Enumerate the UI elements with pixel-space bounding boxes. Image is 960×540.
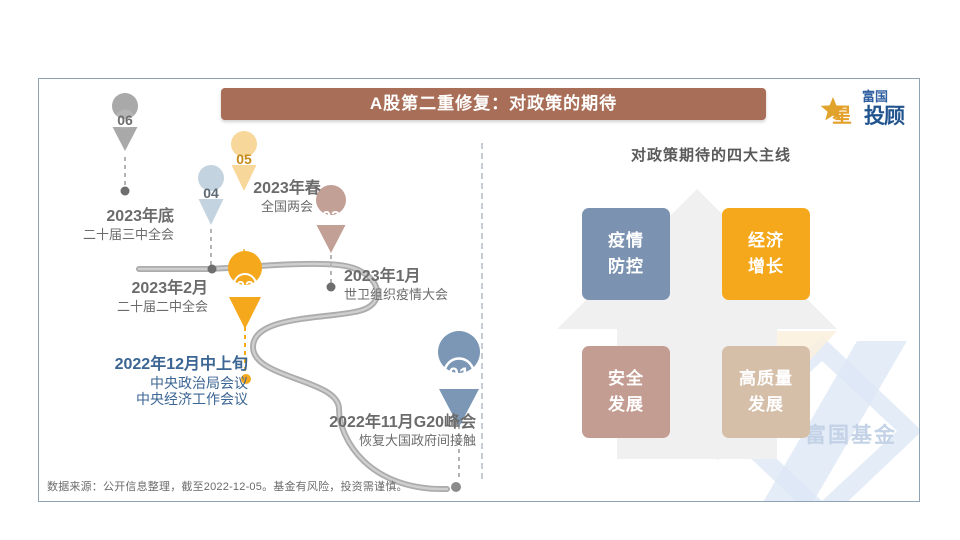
svg-text:04: 04: [203, 185, 219, 201]
theme-box-epidemic[interactable]: 疫情 防控: [582, 208, 670, 300]
event-subtitle-05: 全国两会: [224, 199, 350, 214]
panel-title: 对政策期待的四大主线: [598, 144, 824, 165]
timeline-pin-04: 04: [198, 165, 224, 225]
event-title-04: 2023年2月: [58, 280, 208, 299]
event-label-05: 2023年春 全国两会: [224, 180, 350, 214]
event-label-03: 2023年1月 世卫组织疫情大会: [344, 268, 484, 302]
event-label-02: 2022年12月中上旬 中央政治局会议 中央经济工作会议: [48, 356, 248, 408]
theme-box-security-line2: 发展: [608, 392, 644, 418]
watermark-text: 富国基金: [805, 419, 897, 449]
brand-logo: 富国 星 投顾: [820, 84, 912, 132]
event-title-03: 2023年1月: [344, 268, 484, 287]
event-label-04: 2023年2月 二十届二中全会: [58, 280, 208, 314]
theme-box-quality[interactable]: 高质量 发展: [722, 346, 810, 438]
event-subtitle-04: 二十届二中全会: [58, 299, 208, 314]
svg-text:05: 05: [236, 151, 252, 167]
event-label-01: 2022年11月G20峰会 恢复大国政府间接触: [276, 414, 476, 448]
event-subtitle-01: 恢复大国政府间接触: [276, 433, 476, 448]
svg-text:06: 06: [117, 112, 133, 128]
event-title-01: 2022年11月G20峰会: [276, 414, 476, 433]
slide-root: 富国基金 06: [0, 0, 960, 540]
event-subtitle2-02: 中央经济工作会议: [48, 391, 248, 408]
svg-text:02: 02: [236, 279, 254, 296]
timeline-pin-06: 06: [112, 93, 138, 151]
theme-box-security-line1: 安全: [608, 366, 644, 392]
event-title-02: 2022年12月中上旬: [48, 356, 248, 375]
event-subtitle-06: 二十届三中全会: [38, 227, 174, 242]
svg-text:01: 01: [448, 365, 470, 386]
event-subtitle-02: 中央政治局会议: [48, 375, 248, 392]
theme-box-security[interactable]: 安全 发展: [582, 346, 670, 438]
timeline-pin-02: 02: [228, 251, 262, 329]
banner-title: A股第二重修复：对政策的期待: [221, 88, 766, 120]
theme-box-economy[interactable]: 经济 增长: [722, 208, 810, 300]
logo-xing-text: 星: [832, 99, 852, 128]
theme-box-epidemic-line1: 疫情: [608, 228, 644, 254]
event-label-06: 2023年底 二十届三中全会: [38, 208, 174, 242]
theme-box-quality-line1: 高质量: [739, 366, 793, 392]
theme-box-economy-line1: 经济: [748, 228, 784, 254]
event-title-06: 2023年底: [38, 208, 174, 227]
timeline-pin-01: 01: [438, 331, 480, 427]
logo-main-text: 投顾: [864, 100, 904, 130]
event-subtitle-03: 世卫组织疫情大会: [344, 287, 484, 302]
theme-box-epidemic-line2: 防控: [608, 254, 644, 280]
theme-box-economy-line2: 增长: [748, 254, 784, 280]
theme-box-quality-line2: 发展: [748, 392, 784, 418]
title-banner: A股第二重修复：对政策的期待: [221, 88, 766, 120]
event-title-05: 2023年春: [224, 180, 350, 199]
footer-note: 数据来源：公开信息整理，截至2022-12-05。基金有风险，投资需谨慎。: [47, 478, 408, 494]
